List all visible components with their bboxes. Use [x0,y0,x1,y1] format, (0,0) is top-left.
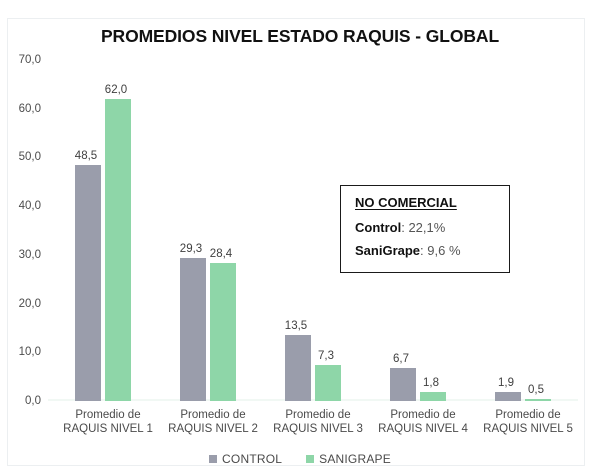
y-axis-tick-label: 20,0 [19,298,41,310]
bar-sani[interactable] [210,263,236,401]
x-axis-category-line: RAQUIS NIVEL 4 [370,422,476,436]
bar-value-label: 13,5 [274,320,318,332]
bar-sani[interactable] [525,399,551,401]
callout-control-label: Control [355,220,401,235]
bar-value-label: 48,5 [64,150,108,162]
bar-value-label: 28,4 [199,248,243,260]
y-axis-tick-label: 10,0 [19,346,41,358]
callout-row-control: Control: 22,1% [355,220,509,235]
bar-control[interactable] [285,335,311,401]
bar-value-label: 62,0 [94,84,138,96]
x-axis-category-line: Promedio de [55,408,161,422]
callout-sanigrape-label: SaniGrape [355,243,420,258]
legend-item-control[interactable]: CONTROL [209,452,282,466]
bar-sani[interactable] [420,392,446,401]
x-axis-category-line: Promedio de [475,408,581,422]
y-axis-tick-label: 30,0 [19,249,41,261]
bar-control[interactable] [180,258,206,401]
x-axis-category-line: Promedio de [370,408,476,422]
x-axis-category-line: RAQUIS NIVEL 1 [55,422,161,436]
y-axis-tick-label: 40,0 [19,200,41,212]
bar-sani[interactable] [105,99,131,401]
x-axis-category-label: Promedio deRAQUIS NIVEL 3 [265,408,371,436]
y-axis-tick-label: 50,0 [19,151,41,163]
legend-item-sanigrape[interactable]: SANIGRAPE [306,452,391,466]
x-axis-category-line: RAQUIS NIVEL 3 [265,422,371,436]
x-axis-category-label: Promedio deRAQUIS NIVEL 2 [160,408,266,436]
legend-swatch-icon [209,455,217,463]
chart-title: PROMEDIOS NIVEL ESTADO RAQUIS - GLOBAL [0,26,600,47]
bar-value-label: 1,8 [409,377,453,389]
chart-screenshot: PROMEDIOS NIVEL ESTADO RAQUIS - GLOBAL 7… [0,0,600,474]
legend-label: SANIGRAPE [319,452,391,466]
x-axis-category-line: Promedio de [160,408,266,422]
callout-row-sanigrape: SaniGrape: 9,6 % [355,243,509,258]
bar-value-label: 6,7 [379,353,423,365]
legend-swatch-icon [306,455,314,463]
callout-control-value: 22,1% [408,220,445,235]
y-axis-tick-label: 70,0 [19,54,41,66]
bar-group: 48,562,0Promedio deRAQUIS NIVEL 1 [66,60,150,401]
x-axis-category-label: Promedio deRAQUIS NIVEL 5 [475,408,581,436]
chart-legend: CONTROLSANIGRAPE [0,452,600,466]
bar-sani[interactable] [315,365,341,401]
bar-value-label: 7,3 [304,350,348,362]
bar-value-label: 0,5 [514,384,558,396]
bar-group: 29,328,4Promedio deRAQUIS NIVEL 2 [171,60,255,401]
x-axis-category-line: RAQUIS NIVEL 5 [475,422,581,436]
no-comercial-callout: NO COMERCIAL Control: 22,1% SaniGrape: 9… [340,185,510,273]
bar-control[interactable] [75,165,101,401]
legend-label: CONTROL [222,452,282,466]
x-axis-category-label: Promedio deRAQUIS NIVEL 4 [370,408,476,436]
x-axis-category-line: Promedio de [265,408,371,422]
callout-title: NO COMERCIAL [355,195,509,210]
callout-sanigrape-value: 9,6 % [427,243,460,258]
x-axis-category-label: Promedio deRAQUIS NIVEL 1 [55,408,161,436]
y-axis-tick-label: 60,0 [19,103,41,115]
y-axis-tick-label: 0,0 [25,395,41,407]
x-axis-category-line: RAQUIS NIVEL 2 [160,422,266,436]
